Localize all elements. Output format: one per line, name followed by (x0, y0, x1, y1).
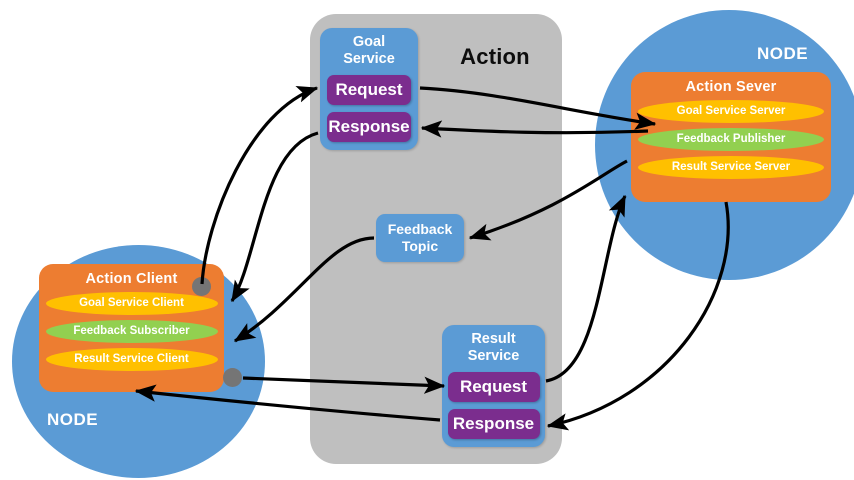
goal-service-request-chip[interactable]: Request (327, 75, 411, 105)
action-diagram-canvas: Action NODE Action Client Goal Service C… (0, 0, 854, 480)
result-service-box: Result Service Request Response (442, 325, 545, 447)
result-service-title-line2: Service (468, 348, 520, 364)
arrow-goal-response-to-client (232, 133, 318, 301)
arrow-client-to-goal-request (202, 88, 317, 284)
result-service-client-entity[interactable]: Result Service Client (46, 348, 218, 371)
feedback-topic-text: Feedback Topic (376, 214, 464, 255)
result-service-title: Result Service (442, 325, 545, 365)
goal-service-client-entity[interactable]: Goal Service Client (46, 292, 218, 315)
feedback-topic-line2: Topic (402, 238, 438, 254)
feedback-publisher-entity[interactable]: Feedback Publisher (638, 128, 824, 151)
client-node-label: NODE (47, 410, 98, 430)
server-node-label: NODE (757, 44, 808, 64)
result-service-server-entity[interactable]: Result Service Server (638, 156, 824, 179)
action-server-title: Action Sever (631, 72, 831, 95)
action-server-panel: Action Sever Goal Service Server Feedbac… (631, 72, 831, 202)
goal-service-title: Goal Service (320, 28, 418, 68)
action-client-result-connector-dot (223, 368, 242, 387)
result-service-title-line1: Result (471, 331, 515, 347)
feedback-subscriber-entity[interactable]: Feedback Subscriber (46, 320, 218, 343)
feedback-topic-line1: Feedback (388, 221, 453, 237)
goal-service-response-chip[interactable]: Response (327, 112, 411, 142)
feedback-topic-box[interactable]: Feedback Topic (376, 214, 464, 262)
action-client-goal-connector-dot (192, 277, 211, 296)
result-service-request-chip[interactable]: Request (448, 372, 540, 402)
action-group-title: Action (430, 44, 560, 70)
goal-service-title-line1: Goal (353, 34, 385, 50)
result-service-response-chip[interactable]: Response (448, 409, 540, 439)
goal-service-server-entity[interactable]: Goal Service Server (638, 100, 824, 123)
goal-service-title-line2: Service (343, 51, 395, 67)
goal-service-box: Goal Service Request Response (320, 28, 418, 150)
